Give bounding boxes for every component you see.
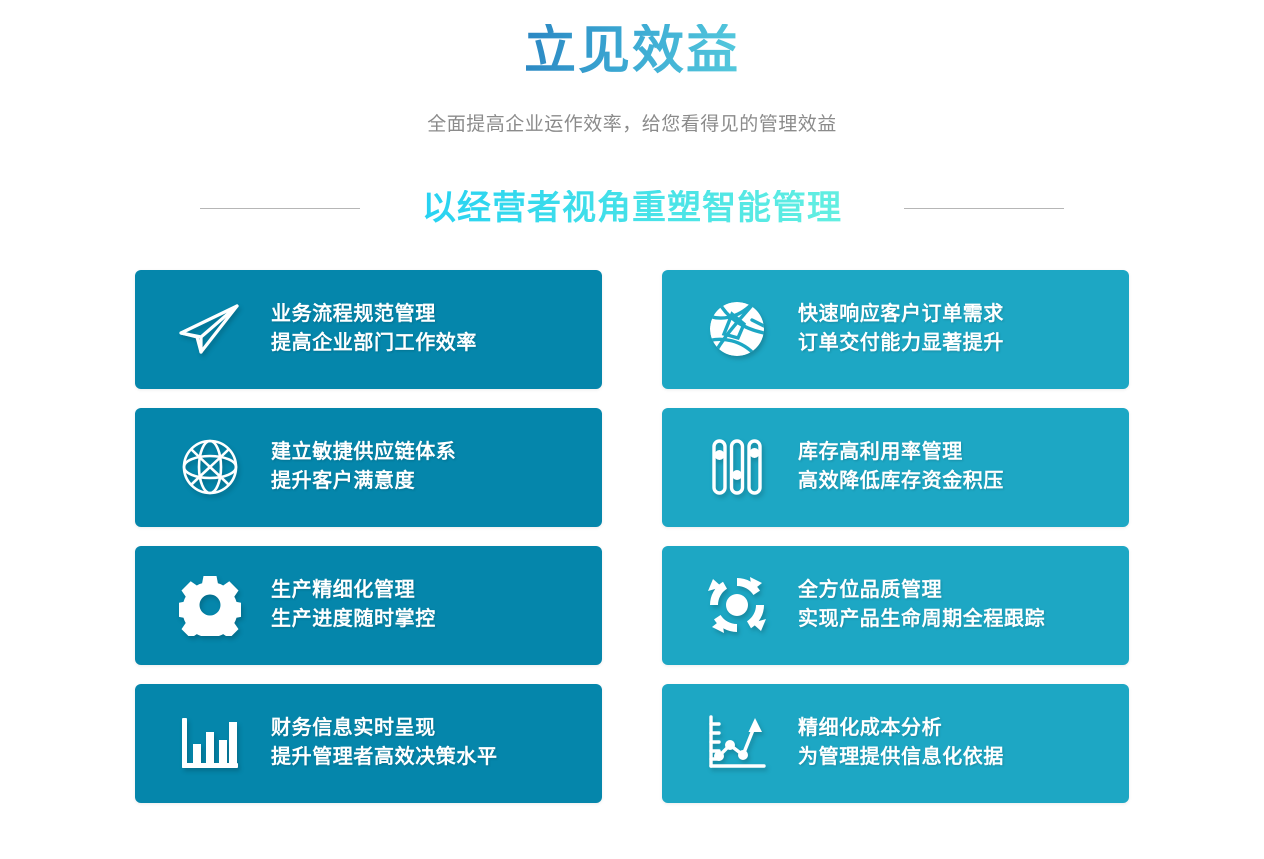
section-heading: 以经营者视角重塑智能管理: [0, 190, 1264, 227]
benefit-card[interactable]: 生产精细化管理 生产进度随时掌控: [135, 546, 602, 665]
divider-line-right: [904, 208, 1064, 209]
benefit-line-1: 全方位品质管理: [798, 579, 942, 601]
benefit-card-text: 库存高利用率管理 高效降低库存资金积压: [798, 438, 1004, 496]
line-chart-arrow-icon: [698, 714, 776, 772]
benefit-card[interactable]: 全方位品质管理 实现产品生命周期全程跟踪: [662, 546, 1129, 665]
benefit-line-1: 快速响应客户订单需求: [798, 303, 1004, 325]
benefit-card-text: 建立敏捷供应链体系 提升客户满意度: [271, 438, 456, 496]
benefit-card-text: 快速响应客户订单需求 订单交付能力显著提升: [798, 300, 1004, 358]
benefit-line-1: 财务信息实时呈现: [271, 717, 436, 739]
bar-chart-icon: [171, 714, 249, 772]
gear-icon: [171, 574, 249, 636]
benefit-card-text: 全方位品质管理 实现产品生命周期全程跟踪: [798, 576, 1045, 634]
benefit-line-1: 建立敏捷供应链体系: [271, 441, 456, 463]
benefit-line-1: 库存高利用率管理: [798, 441, 963, 463]
sliders-icon: [698, 438, 776, 496]
benefit-card[interactable]: 业务流程规范管理 提高企业部门工作效率: [135, 270, 602, 389]
benefit-card-text: 财务信息实时呈现 提升管理者高效决策水平: [271, 714, 498, 772]
benefit-card[interactable]: 建立敏捷供应链体系 提升客户满意度: [135, 408, 602, 527]
refresh-cycle-icon: [698, 575, 776, 635]
benefit-line-1: 业务流程规范管理: [271, 303, 436, 325]
benefit-line-2: 提升客户满意度: [271, 467, 456, 496]
benefit-card-text: 生产精细化管理 生产进度随时掌控: [271, 576, 436, 634]
benefit-card-grid: 业务流程规范管理 提高企业部门工作效率: [135, 270, 1129, 803]
page-title: 立见效益: [524, 24, 740, 79]
paper-plane-icon: [171, 303, 249, 355]
section-title: 以经营者视角重塑智能管理: [422, 190, 842, 227]
benefit-card[interactable]: 快速响应客户订单需求 订单交付能力显著提升: [662, 270, 1129, 389]
benefit-line-1: 生产精细化管理: [271, 579, 415, 601]
benefit-line-2: 提高企业部门工作效率: [271, 329, 477, 358]
benefit-card-text: 业务流程规范管理 提高企业部门工作效率: [271, 300, 477, 358]
benefit-line-2: 高效降低库存资金积压: [798, 467, 1004, 496]
benefit-card[interactable]: 精细化成本分析 为管理提供信息化依据: [662, 684, 1129, 803]
benefit-line-2: 生产进度随时掌控: [271, 605, 436, 634]
benefit-line-2: 为管理提供信息化依据: [798, 743, 1004, 772]
benefit-card[interactable]: 财务信息实时呈现 提升管理者高效决策水平: [135, 684, 602, 803]
benefit-card-text: 精细化成本分析 为管理提供信息化依据: [798, 714, 1004, 772]
benefit-line-2: 实现产品生命周期全程跟踪: [798, 605, 1045, 634]
benefit-card: 库存高利用率管理 高效降低库存资金积压: [662, 408, 1129, 527]
divider-line-left: [200, 208, 360, 209]
page-subtitle: 全面提高企业运作效率，给您看得见的管理效益: [0, 112, 1264, 139]
benefit-line-2: 提升管理者高效决策水平: [271, 743, 498, 772]
benefits-page: 立见效益 全面提高企业运作效率，给您看得见的管理效益 以经营者视角重塑智能管理 …: [0, 0, 1264, 859]
network-sphere-icon: [698, 300, 776, 358]
hero-section: 立见效益 全面提高企业运作效率，给您看得见的管理效益: [0, 0, 1264, 138]
globe-wireframe-icon: [171, 438, 249, 496]
benefit-line-1: 精细化成本分析: [798, 717, 942, 739]
benefit-line-2: 订单交付能力显著提升: [798, 329, 1004, 358]
